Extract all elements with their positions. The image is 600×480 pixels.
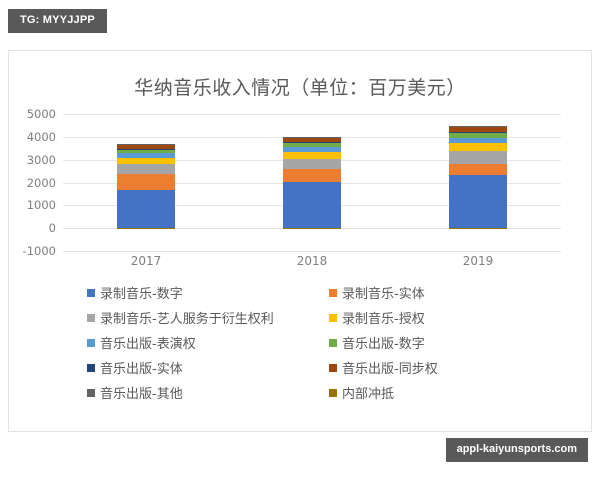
legend-swatch-icon — [329, 364, 337, 372]
y-axis-tick-label: 5000 — [12, 107, 56, 121]
bar-segment[interactable] — [117, 164, 175, 174]
bar-segment[interactable] — [117, 158, 175, 165]
x-axis-tick-label: 2018 — [229, 254, 395, 268]
bar-segment[interactable] — [117, 145, 175, 149]
tg-badge: TG: MYYJJPP — [8, 9, 107, 33]
stacked-bar[interactable] — [283, 114, 341, 251]
legend-swatch-icon — [329, 389, 337, 397]
legend-swatch-icon — [329, 289, 337, 297]
legend-row: 音乐出版-实体音乐出版-同步权 — [87, 358, 557, 377]
bar-segment[interactable] — [283, 147, 341, 152]
legend-row: 音乐出版-表演权音乐出版-数字 — [87, 333, 557, 352]
bar-segment[interactable] — [283, 159, 341, 169]
y-axis-tick-label: 1000 — [12, 198, 56, 212]
watermark: appl-kaiyunsports.com — [446, 438, 588, 462]
legend-item[interactable]: 音乐出版-同步权 — [329, 358, 438, 377]
legend-item-label: 音乐出版-其他 — [100, 383, 183, 402]
x-axis-tick-label: 2019 — [395, 254, 561, 268]
legend-swatch-icon — [87, 339, 95, 347]
legend-item-label: 音乐出版-实体 — [100, 358, 183, 377]
chart-title: 华纳音乐收入情况（单位：百万美元） — [9, 73, 591, 100]
legend-swatch-icon — [87, 364, 95, 372]
bar-group-2018[interactable]: 2018 — [229, 114, 395, 251]
legend-item-label: 音乐出版-数字 — [342, 333, 425, 352]
legend-item[interactable]: 录制音乐-艺人服务于衍生权利 — [87, 308, 329, 327]
legend-item[interactable]: 音乐出版-其他 — [87, 383, 329, 402]
legend-item-label: 内部冲抵 — [342, 383, 394, 402]
bar-segment[interactable] — [283, 143, 341, 147]
legend-item-label: 音乐出版-表演权 — [100, 333, 196, 352]
bar-segment[interactable] — [117, 149, 175, 150]
legend-swatch-icon — [329, 314, 337, 322]
bar-segment[interactable] — [449, 132, 507, 133]
legend-row: 录制音乐-艺人服务于衍生权利录制音乐-授权 — [87, 308, 557, 327]
bar-segment[interactable] — [449, 164, 507, 175]
legend-swatch-icon — [87, 314, 95, 322]
bar-segment[interactable] — [449, 143, 507, 151]
legend-swatch-icon — [329, 339, 337, 347]
bar-segment[interactable] — [449, 151, 507, 164]
bar-segment[interactable] — [283, 137, 341, 142]
legend-swatch-icon — [87, 289, 95, 297]
bar-segment[interactable] — [283, 228, 341, 229]
legend-swatch-icon — [87, 389, 95, 397]
chart-legend: 录制音乐-数字录制音乐-实体录制音乐-艺人服务于衍生权利录制音乐-授权音乐出版-… — [87, 283, 557, 408]
bar-segment[interactable] — [117, 190, 175, 228]
legend-item[interactable]: 音乐出版-数字 — [329, 333, 425, 352]
bar-segment[interactable] — [449, 138, 507, 143]
gridline — [63, 251, 561, 252]
bar-segment[interactable] — [283, 169, 341, 182]
legend-item-label: 音乐出版-同步权 — [342, 358, 438, 377]
bar-segment[interactable] — [449, 126, 507, 127]
bar-segment[interactable] — [449, 127, 507, 132]
bar-segment[interactable] — [117, 228, 175, 229]
legend-item-label: 录制音乐-数字 — [100, 283, 183, 302]
stacked-bar[interactable] — [117, 114, 175, 251]
legend-item-label: 录制音乐-艺人服务于衍生权利 — [100, 308, 274, 327]
legend-item[interactable]: 录制音乐-授权 — [329, 308, 425, 327]
bar-segment[interactable] — [449, 228, 507, 229]
bar-group-2017[interactable]: 2017 — [63, 114, 229, 251]
legend-item-label: 录制音乐-实体 — [342, 283, 425, 302]
chart-plot-area: 500040003000200010000-1000 201720182019 — [63, 114, 561, 251]
chart-card: 华纳音乐收入情况（单位：百万美元） 500040003000200010000-… — [8, 50, 592, 432]
bar-group-2019[interactable]: 2019 — [395, 114, 561, 251]
bar-segment[interactable] — [449, 132, 507, 138]
bar-segment[interactable] — [283, 137, 341, 138]
legend-item[interactable]: 音乐出版-表演权 — [87, 333, 329, 352]
bar-segment[interactable] — [117, 174, 175, 190]
legend-item[interactable]: 音乐出版-实体 — [87, 358, 329, 377]
legend-item[interactable]: 录制音乐-数字 — [87, 283, 329, 302]
legend-item[interactable]: 内部冲抵 — [329, 383, 394, 402]
bar-segment[interactable] — [283, 182, 341, 228]
bar-segment[interactable] — [117, 150, 175, 153]
legend-row: 录制音乐-数字录制音乐-实体 — [87, 283, 557, 302]
x-axis-tick-label: 2017 — [63, 254, 229, 268]
bar-segment[interactable] — [449, 175, 507, 228]
legend-item[interactable]: 录制音乐-实体 — [329, 283, 425, 302]
y-axis-tick-label: 4000 — [12, 130, 56, 144]
bar-segment[interactable] — [283, 152, 341, 159]
legend-row: 音乐出版-其他内部冲抵 — [87, 383, 557, 402]
bar-segment[interactable] — [283, 142, 341, 143]
y-axis-tick-label: -1000 — [12, 244, 56, 258]
y-axis-tick-label: 0 — [12, 221, 56, 235]
y-axis-tick-label: 2000 — [12, 176, 56, 190]
legend-item-label: 录制音乐-授权 — [342, 308, 425, 327]
bar-segment[interactable] — [117, 153, 175, 158]
bar-segment[interactable] — [117, 144, 175, 145]
y-axis-tick-label: 3000 — [12, 153, 56, 167]
stacked-bar[interactable] — [449, 114, 507, 251]
